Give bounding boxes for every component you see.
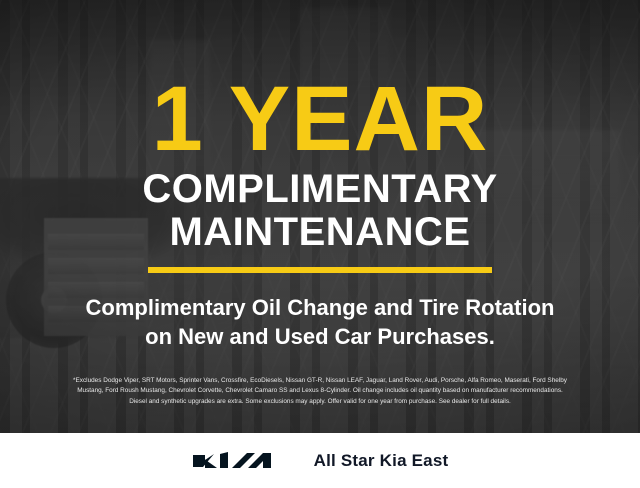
hero-content: 1 YEAR COMPLIMENTARY MAINTENANCE Complim…: [0, 0, 640, 433]
subheadline-line-2: MAINTENANCE: [142, 211, 497, 253]
headline: 1 YEAR: [152, 76, 489, 162]
offer-line-2: on New and Used Car Purchases.: [86, 322, 555, 351]
yellow-divider-bar: [148, 267, 492, 273]
offer-line-1: Complimentary Oil Change and Tire Rotati…: [86, 293, 555, 322]
hero-section: 1 YEAR COMPLIMENTARY MAINTENANCE Complim…: [0, 0, 640, 433]
footer-bar: All Star Kia East: [0, 433, 640, 488]
kia-logo: [192, 449, 288, 473]
subheadline: COMPLIMENTARY MAINTENANCE: [142, 168, 497, 253]
subheadline-line-1: COMPLIMENTARY: [142, 168, 497, 210]
dealer-name: All Star Kia East: [314, 451, 449, 471]
promo-banner: 1 YEAR COMPLIMENTARY MAINTENANCE Complim…: [0, 0, 640, 488]
offer-text: Complimentary Oil Change and Tire Rotati…: [86, 293, 555, 351]
